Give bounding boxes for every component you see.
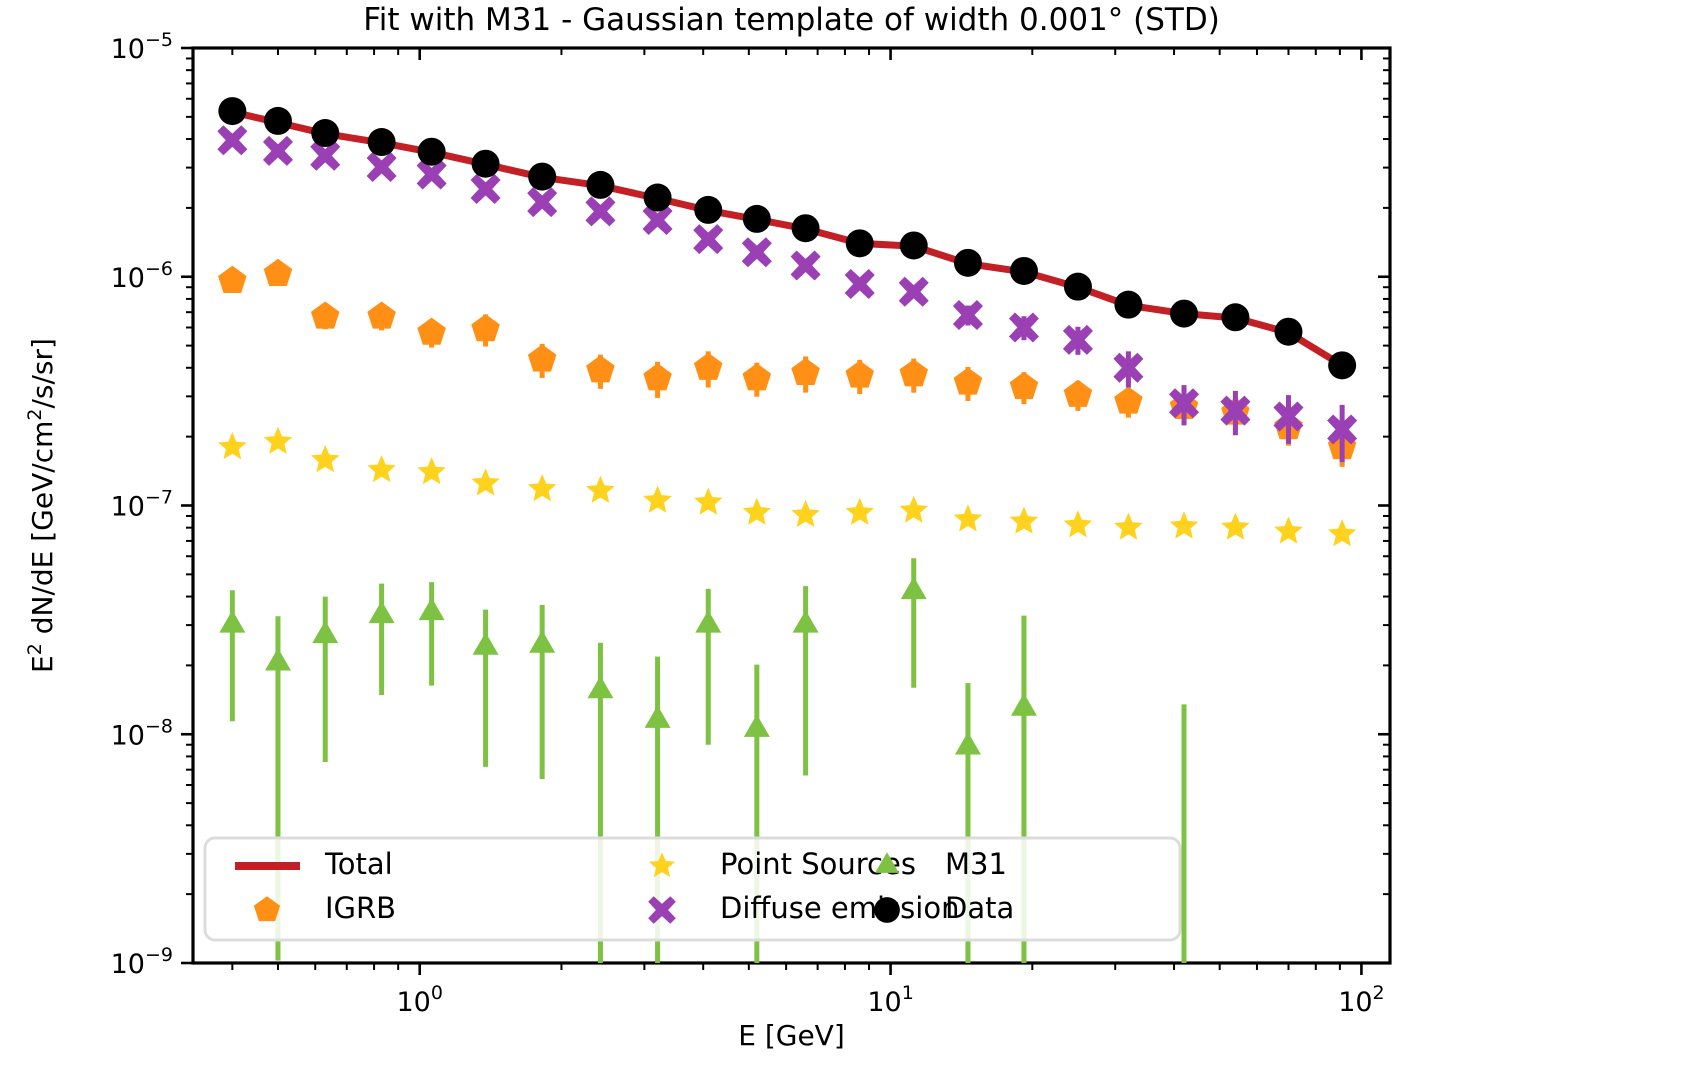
data-marker [472, 150, 500, 178]
data-marker [900, 231, 928, 259]
figure-canvas: TotalIGRBPoint SourcesDiffuse emissionM3… [0, 0, 1696, 1080]
data-marker [418, 138, 446, 166]
data-marker [264, 107, 292, 135]
data-marker [1274, 318, 1302, 346]
data-marker [694, 196, 722, 224]
data-marker [586, 171, 614, 199]
y-tick-label: 10−7 [111, 487, 173, 523]
x-tick-label: 100 [396, 982, 442, 1018]
legend-label: M31 [945, 847, 1007, 881]
legend-label: Data [945, 891, 1014, 925]
y-tick-label: 10−6 [111, 258, 173, 294]
data-marker [218, 97, 246, 125]
data-marker [1170, 300, 1198, 328]
legend-label: Total [324, 847, 393, 881]
y-tick-label: 10−9 [111, 944, 173, 980]
data-marker [1221, 303, 1249, 331]
data-marker [528, 163, 556, 191]
data-marker [792, 214, 820, 242]
data-marker [743, 205, 771, 233]
spectral-energy-distribution-chart: TotalIGRBPoint SourcesDiffuse emissionM3… [0, 0, 1696, 1080]
data-marker [1010, 257, 1038, 285]
data-marker [644, 184, 672, 212]
data-marker [1328, 351, 1356, 379]
data-marker [311, 119, 339, 147]
data-marker [368, 128, 396, 156]
data-marker [1114, 291, 1142, 319]
data-marker [954, 249, 982, 277]
legend-swatch-o [874, 897, 900, 923]
axes-layer [181, 48, 1390, 975]
y-axis-label: E2 dN/dE [GeV/cm2/s/sr] [24, 338, 59, 673]
y-tick-label: 10−5 [111, 29, 173, 65]
legend-label: IGRB [325, 891, 396, 925]
x-tick-label: 102 [1338, 982, 1384, 1018]
chart-title: Fit with M31 - Gaussian template of widt… [363, 2, 1220, 38]
x-tick-label: 101 [867, 982, 913, 1018]
legend-label: Diffuse emission [720, 891, 959, 925]
data-marker [846, 229, 874, 257]
plot-frame [193, 48, 1390, 963]
legend-layer: TotalIGRBPoint SourcesDiffuse emissionM3… [205, 838, 1180, 940]
data-marker [1064, 273, 1092, 301]
y-tick-label: 10−8 [111, 715, 173, 751]
x-axis-label: E [GeV] [738, 1019, 845, 1052]
